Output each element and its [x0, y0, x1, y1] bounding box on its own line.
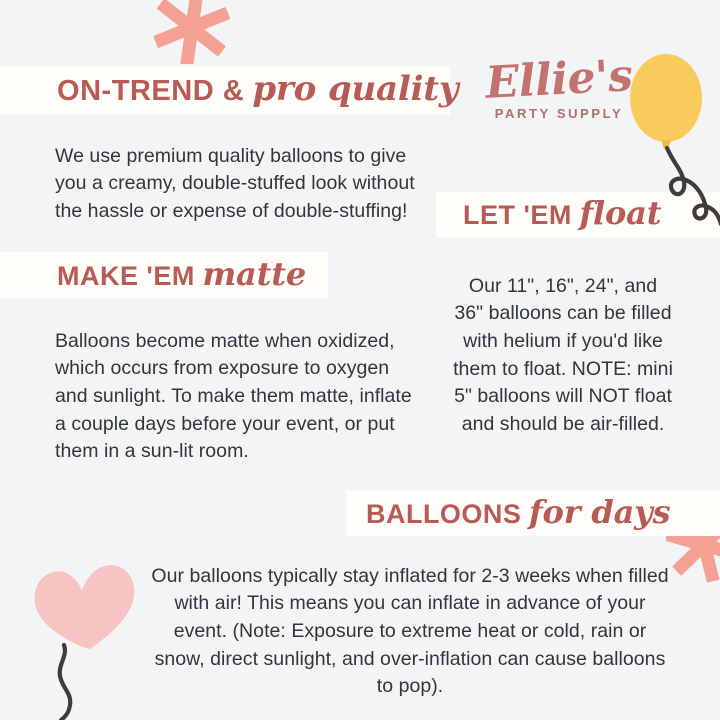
logo-script-text: Ellie's — [483, 54, 635, 106]
heading-on-trend-caps: ON-TREND & — [57, 75, 244, 107]
brand-logo: Ellie's PARTY SUPPLY — [484, 58, 634, 121]
heading-balloons-for-days-caps: BALLOONS — [366, 499, 521, 529]
asterisk-top-left-icon — [150, 0, 232, 64]
body-balloons-for-days: Our balloons typically stay inflated for… — [150, 563, 670, 701]
body-make-em-matte: Balloons become matte when oxidized, whi… — [55, 328, 415, 466]
body-on-trend: We use premium quality balloons to give … — [55, 143, 435, 226]
heading-let-em-float: LET 'EM float — [463, 197, 661, 229]
heading-on-trend: ON-TREND & pro quality — [57, 72, 458, 106]
heading-make-em-matte: MAKE 'EM matte — [57, 258, 306, 290]
pink-heart-balloon-icon — [24, 548, 154, 720]
heading-make-em-matte-script: matte — [202, 255, 306, 293]
heading-balloons-for-days: BALLOONS for days — [366, 496, 670, 528]
heading-let-em-float-script: float — [579, 194, 661, 232]
body-let-em-float: Our 11", 16", 24", and 36" balloons can … — [452, 273, 674, 439]
heading-let-em-float-caps: LET 'EM — [463, 200, 572, 230]
heading-make-em-matte-caps: MAKE 'EM — [57, 261, 195, 291]
heading-on-trend-script: pro quality — [252, 69, 458, 109]
logo-subtitle-text: PARTY SUPPLY — [484, 106, 634, 121]
heading-balloons-for-days-script: for days — [529, 493, 671, 531]
infographic-poster: Ellie's PARTY SUPPLY ON-TREND & pro qual… — [0, 0, 720, 720]
